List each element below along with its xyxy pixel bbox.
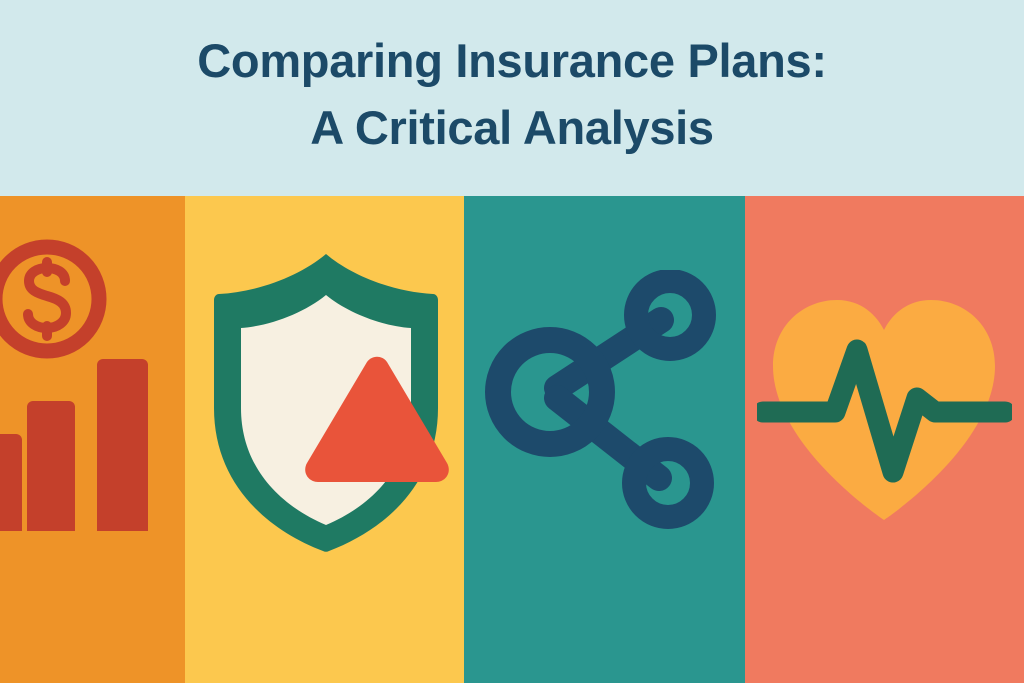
health-panel[interactable] bbox=[745, 196, 1024, 683]
shield-panel[interactable] bbox=[185, 196, 464, 683]
share-network-icon bbox=[485, 270, 725, 530]
shield-with-warning-triangle-icon bbox=[203, 248, 449, 558]
finance-panel[interactable] bbox=[0, 196, 185, 683]
panel-strip bbox=[0, 196, 1024, 683]
dollar-coin-and-bar-chart-icon bbox=[0, 231, 188, 531]
header-band: Comparing Insurance Plans: A Critical An… bbox=[0, 0, 1024, 196]
title-line-primary: Comparing Insurance Plans: bbox=[0, 28, 1024, 95]
heart-with-heartbeat-icon bbox=[757, 290, 1012, 530]
page-title: Comparing Insurance Plans: A Critical An… bbox=[0, 28, 1024, 161]
title-line-secondary: A Critical Analysis bbox=[0, 95, 1024, 162]
infographic-banner: Comparing Insurance Plans: A Critical An… bbox=[0, 0, 1024, 683]
network-panel[interactable] bbox=[464, 196, 745, 683]
